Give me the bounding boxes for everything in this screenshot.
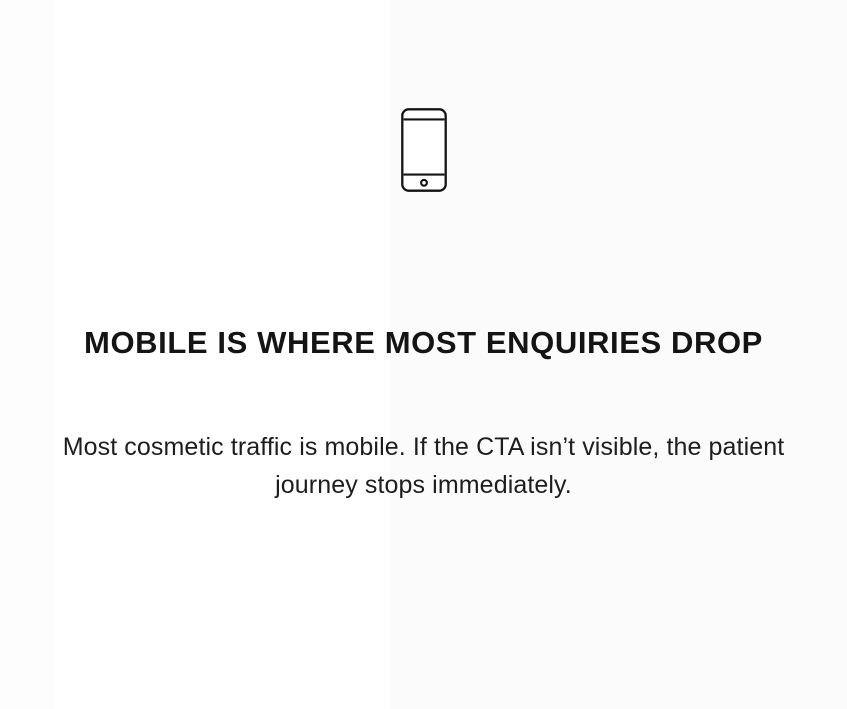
icon-container (0, 108, 847, 192)
slide-canvas: MOBILE IS WHERE MOST ENQUIRIES DROP Most… (0, 0, 847, 709)
page-title: MOBILE IS WHERE MOST ENQUIRIES DROP (0, 323, 847, 363)
body-paragraph: Most cosmetic traffic is mobile. If the … (50, 428, 797, 504)
slide-content: MOBILE IS WHERE MOST ENQUIRIES DROP Most… (0, 0, 847, 709)
mobile-phone-icon (401, 108, 447, 192)
